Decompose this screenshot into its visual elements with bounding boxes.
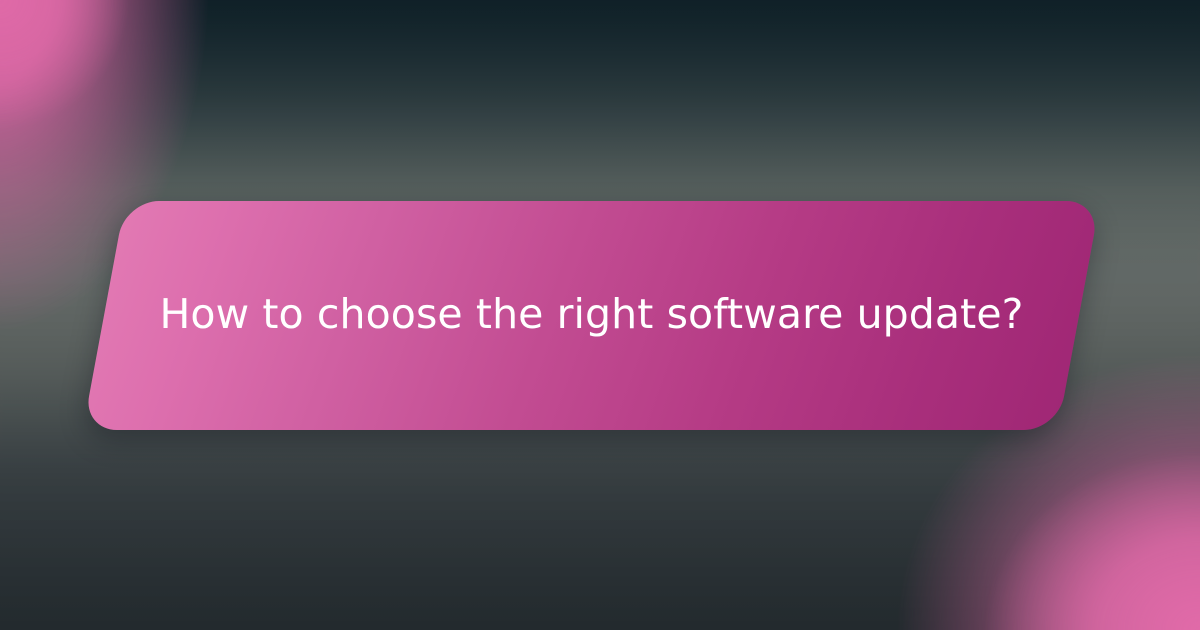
banner-card: How to choose the right software update? — [0, 0, 1200, 630]
page-title: How to choose the right software update? — [104, 201, 1079, 430]
title-banner: How to choose the right software update? — [104, 201, 1079, 430]
